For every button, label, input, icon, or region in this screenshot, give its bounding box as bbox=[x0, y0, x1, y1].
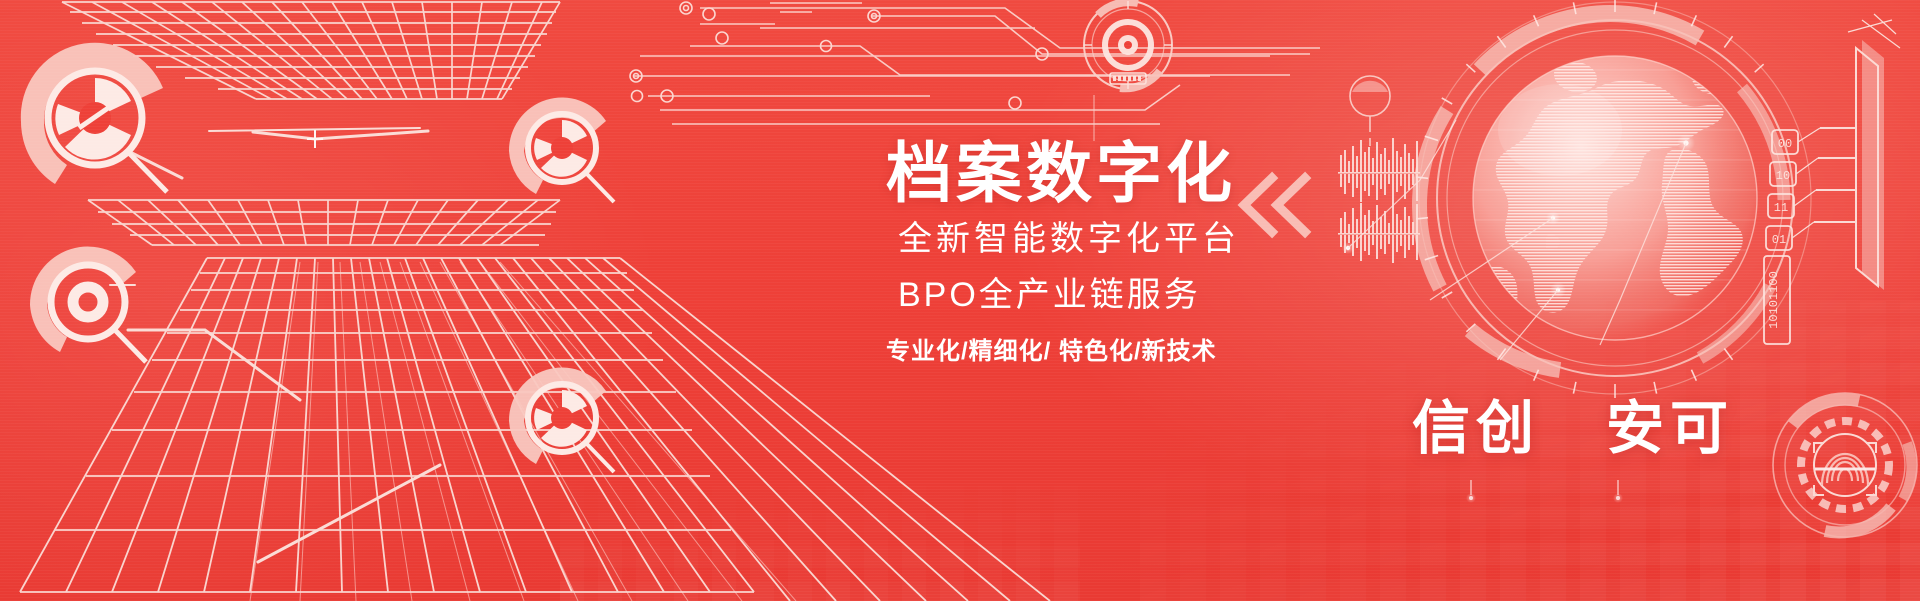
slogan-block: 信创安可 bbox=[1412, 400, 1734, 458]
tagline: 专业化/精细化/ 特色化/新技术 bbox=[886, 340, 1217, 364]
subtitle-secondary: BPO全产业链服务 bbox=[898, 278, 1201, 312]
headline-block: 档案数字化 全新智能数字化平台 BPO全产业链服务 专业化/精细化/ 特色化/新… bbox=[0, 0, 1920, 601]
hero-banner: 00 10 11 01 10101100 bbox=[0, 0, 1920, 601]
subtitle-primary: 全新智能数字化平台 bbox=[898, 222, 1240, 256]
slogan-right: 安可 bbox=[1606, 396, 1734, 461]
slogan-left: 信创 bbox=[1412, 396, 1540, 461]
page-title: 档案数字化 bbox=[886, 140, 1236, 206]
